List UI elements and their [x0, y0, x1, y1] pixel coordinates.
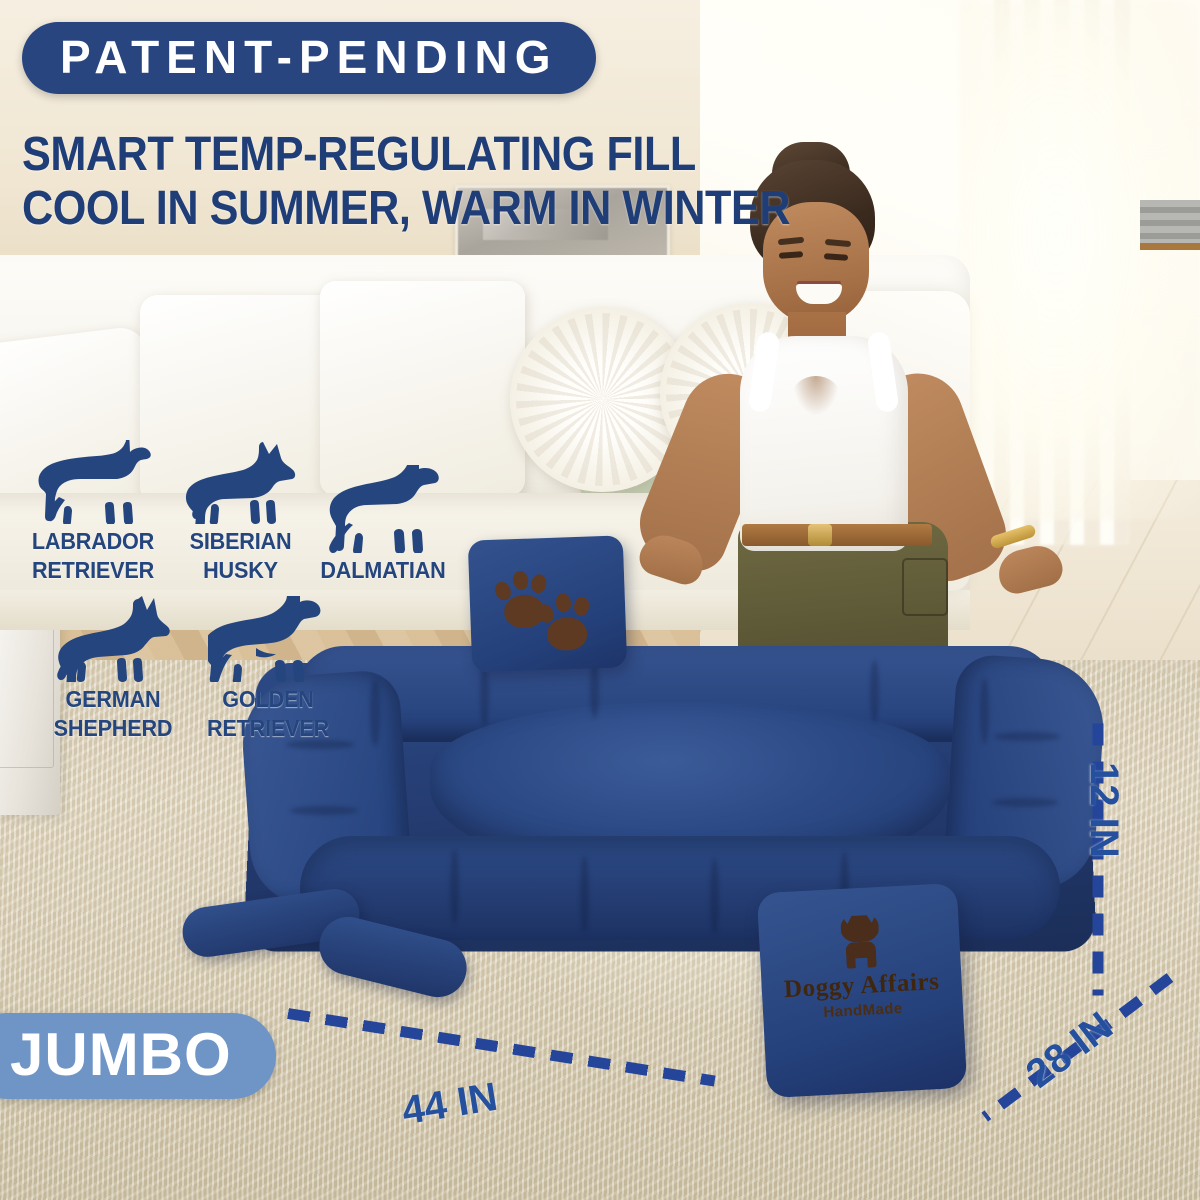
compatible-breeds-section: LABRADOR RETRIEVER SIBERIAN HUSKY DALM: [18, 440, 458, 740]
size-badge-label: JUMBO: [10, 1021, 232, 1088]
breed-label: HUSKY: [172, 559, 308, 582]
breed-row-2: GERMAN SHEPHERD GOLDEN RETRIEVER: [18, 596, 458, 740]
patent-pending-label: PATENT-PENDING: [60, 31, 558, 83]
headline-line-2: COOL IN SUMMER, WARM IN WINTER: [22, 182, 670, 236]
bed-tuft: [450, 850, 459, 924]
brand-logo-pillow: Doggy Affairs HandMade: [757, 883, 967, 1098]
dimension-label-height: 12 IN: [1081, 762, 1126, 858]
breed-label: RETRIEVER: [193, 717, 343, 740]
window-shutter: [1140, 200, 1200, 250]
bed-tuft: [286, 740, 354, 749]
bed-tuft: [992, 798, 1058, 807]
dog-silhouette-golden-icon: [208, 596, 328, 682]
breed-label: SIBERIAN: [172, 530, 308, 553]
breed-item-german-shepherd: GERMAN SHEPHERD: [38, 596, 188, 740]
bed-tuft: [710, 858, 719, 934]
dog-silhouette-shepherd-icon: [54, 596, 172, 682]
paw-print-icon: [536, 588, 600, 656]
paw-print-pillow: [468, 535, 628, 672]
breed-item-dalmatian: DALMATIAN: [313, 465, 453, 582]
breed-item-husky: SIBERIAN HUSKY: [168, 440, 313, 582]
bed-tuft: [994, 732, 1060, 741]
dog-silhouette-husky-icon: [185, 440, 297, 524]
bed-tuft: [870, 660, 879, 722]
patent-pending-badge: PATENT-PENDING: [22, 22, 596, 94]
breed-label: GOLDEN: [193, 688, 343, 711]
breed-item-golden-retriever: GOLDEN RETRIEVER: [188, 596, 348, 740]
cargo-pocket: [902, 558, 948, 616]
hand-right: [994, 541, 1066, 597]
breed-label: RETRIEVER: [23, 559, 164, 582]
dog-silhouette-dalmatian-icon: [325, 465, 441, 553]
bed-tuft: [290, 806, 358, 815]
headline-line-1: SMART TEMP-REGULATING FILL: [22, 128, 670, 182]
headline-block: SMART TEMP-REGULATING FILL COOL IN SUMME…: [22, 128, 742, 236]
breed-label: DALMATIAN: [317, 559, 449, 582]
size-badge: JUMBO: [0, 1013, 276, 1099]
bed-tuft: [580, 856, 589, 932]
product-marketing-image: Doggy Affairs HandMade PATENT-PENDING SM…: [0, 0, 1200, 1200]
breed-label: LABRADOR: [23, 530, 164, 553]
breed-label: SHEPHERD: [43, 717, 184, 740]
bed-tuft: [980, 678, 989, 744]
dog-head-logo-icon: [836, 911, 885, 967]
chest-shading: [792, 376, 840, 416]
belt-buckle: [808, 524, 832, 546]
belt: [742, 524, 932, 546]
breed-item-labrador: LABRADOR RETRIEVER: [18, 440, 168, 582]
breed-row-1: LABRADOR RETRIEVER SIBERIAN HUSKY DALM: [18, 440, 458, 582]
bed-tuft: [480, 664, 489, 726]
breed-label: GERMAN: [43, 688, 184, 711]
dog-silhouette-labrador-icon: [34, 440, 152, 524]
